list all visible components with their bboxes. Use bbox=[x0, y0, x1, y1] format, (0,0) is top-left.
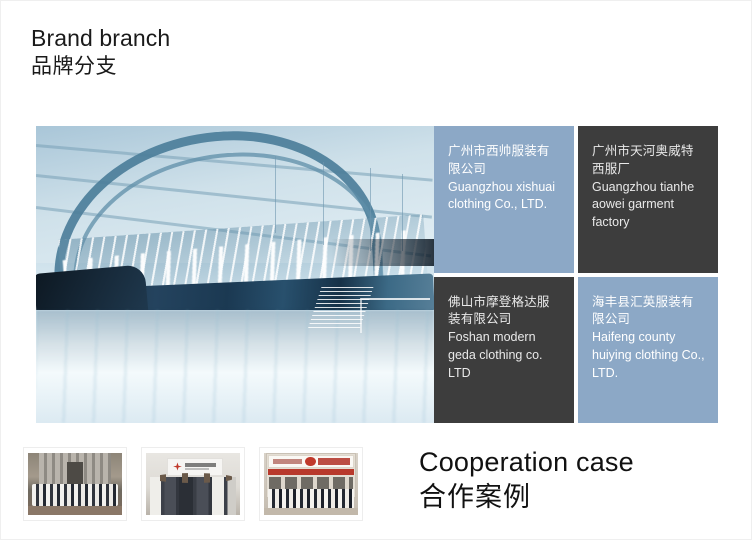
page-header: Brand branch 品牌分支 bbox=[31, 23, 170, 81]
company-card-aowei[interactable]: 广州市天河奥威特西服厂 Guangzhou tianhe aowei garme… bbox=[578, 126, 718, 273]
icbc-wordmark bbox=[318, 458, 350, 465]
company-name-cn: 海丰县汇英服装有限公司 bbox=[592, 294, 706, 330]
thumbnail-icbc-photo[interactable] bbox=[259, 447, 363, 521]
company-card-row-bottom: 佛山市摩登格达服装有限公司 Foshan modern geda clothin… bbox=[434, 277, 718, 424]
icbc-storefront-image bbox=[264, 453, 358, 515]
staff-heads bbox=[152, 473, 235, 483]
ceiling-hanger bbox=[323, 162, 324, 245]
factory-interior-photo bbox=[36, 126, 434, 423]
company-card-geda[interactable]: 佛山市摩登格达服装有限公司 Foshan modern geda clothin… bbox=[434, 277, 574, 424]
red-banner-strip bbox=[268, 469, 354, 476]
company-name-en: Haifeng county huiying clothing Co., LTD… bbox=[592, 329, 706, 382]
page-title-en: Brand branch bbox=[31, 23, 170, 53]
company-card-huiying[interactable]: 海丰县汇英服装有限公司 Haifeng county huiying cloth… bbox=[578, 277, 718, 424]
huawei-wordmark bbox=[185, 463, 216, 467]
cooperation-case-heading: Cooperation case 合作案例 bbox=[419, 445, 634, 515]
staff-row bbox=[268, 489, 354, 509]
handrail bbox=[360, 298, 430, 333]
company-name-cn: 佛山市摩登格达服装有限公司 bbox=[448, 294, 562, 330]
dark-wall-band bbox=[331, 239, 434, 266]
icbc-logo-icon bbox=[305, 457, 315, 466]
company-card-grid: 广州市西帅服装有限公司 Guangzhou xishuai clothing C… bbox=[434, 126, 718, 423]
huawei-banner-image bbox=[146, 453, 240, 515]
pavement bbox=[264, 508, 358, 515]
page-title-cn: 品牌分支 bbox=[31, 53, 170, 81]
huawei-subtext bbox=[185, 468, 209, 470]
company-name-en: Foshan modern geda clothing co. LTD bbox=[448, 329, 562, 382]
company-card-row-top: 广州市西帅服装有限公司 Guangzhou xishuai clothing C… bbox=[434, 126, 718, 273]
company-card-xishuai[interactable]: 广州市西帅服装有限公司 Guangzhou xishuai clothing C… bbox=[434, 126, 574, 273]
company-name-en: Guangzhou tianhe aowei garment factory bbox=[592, 179, 706, 232]
ceiling-hanger bbox=[275, 156, 276, 233]
company-name-en: Guangzhou xishuai clothing Co., LTD. bbox=[448, 179, 562, 215]
signboard-left-text bbox=[273, 459, 301, 465]
company-name-cn: 广州市西帅服装有限公司 bbox=[448, 143, 562, 179]
group-photo-image bbox=[28, 453, 122, 515]
cooperation-title-cn: 合作案例 bbox=[419, 480, 634, 515]
cooperation-title-en: Cooperation case bbox=[419, 445, 634, 480]
thumbnail-huawei-photo[interactable] bbox=[141, 447, 245, 521]
cooperation-thumbnail-strip bbox=[23, 447, 363, 521]
thumbnail-group-photo[interactable] bbox=[23, 447, 127, 521]
company-name-cn: 广州市天河奥威特西服厂 bbox=[592, 143, 706, 179]
ground bbox=[28, 506, 122, 515]
huawei-logo-icon bbox=[173, 462, 182, 470]
brand-branch-showcase: 广州市西帅服装有限公司 Guangzhou xishuai clothing C… bbox=[36, 126, 718, 423]
staff-crowd bbox=[32, 484, 118, 506]
